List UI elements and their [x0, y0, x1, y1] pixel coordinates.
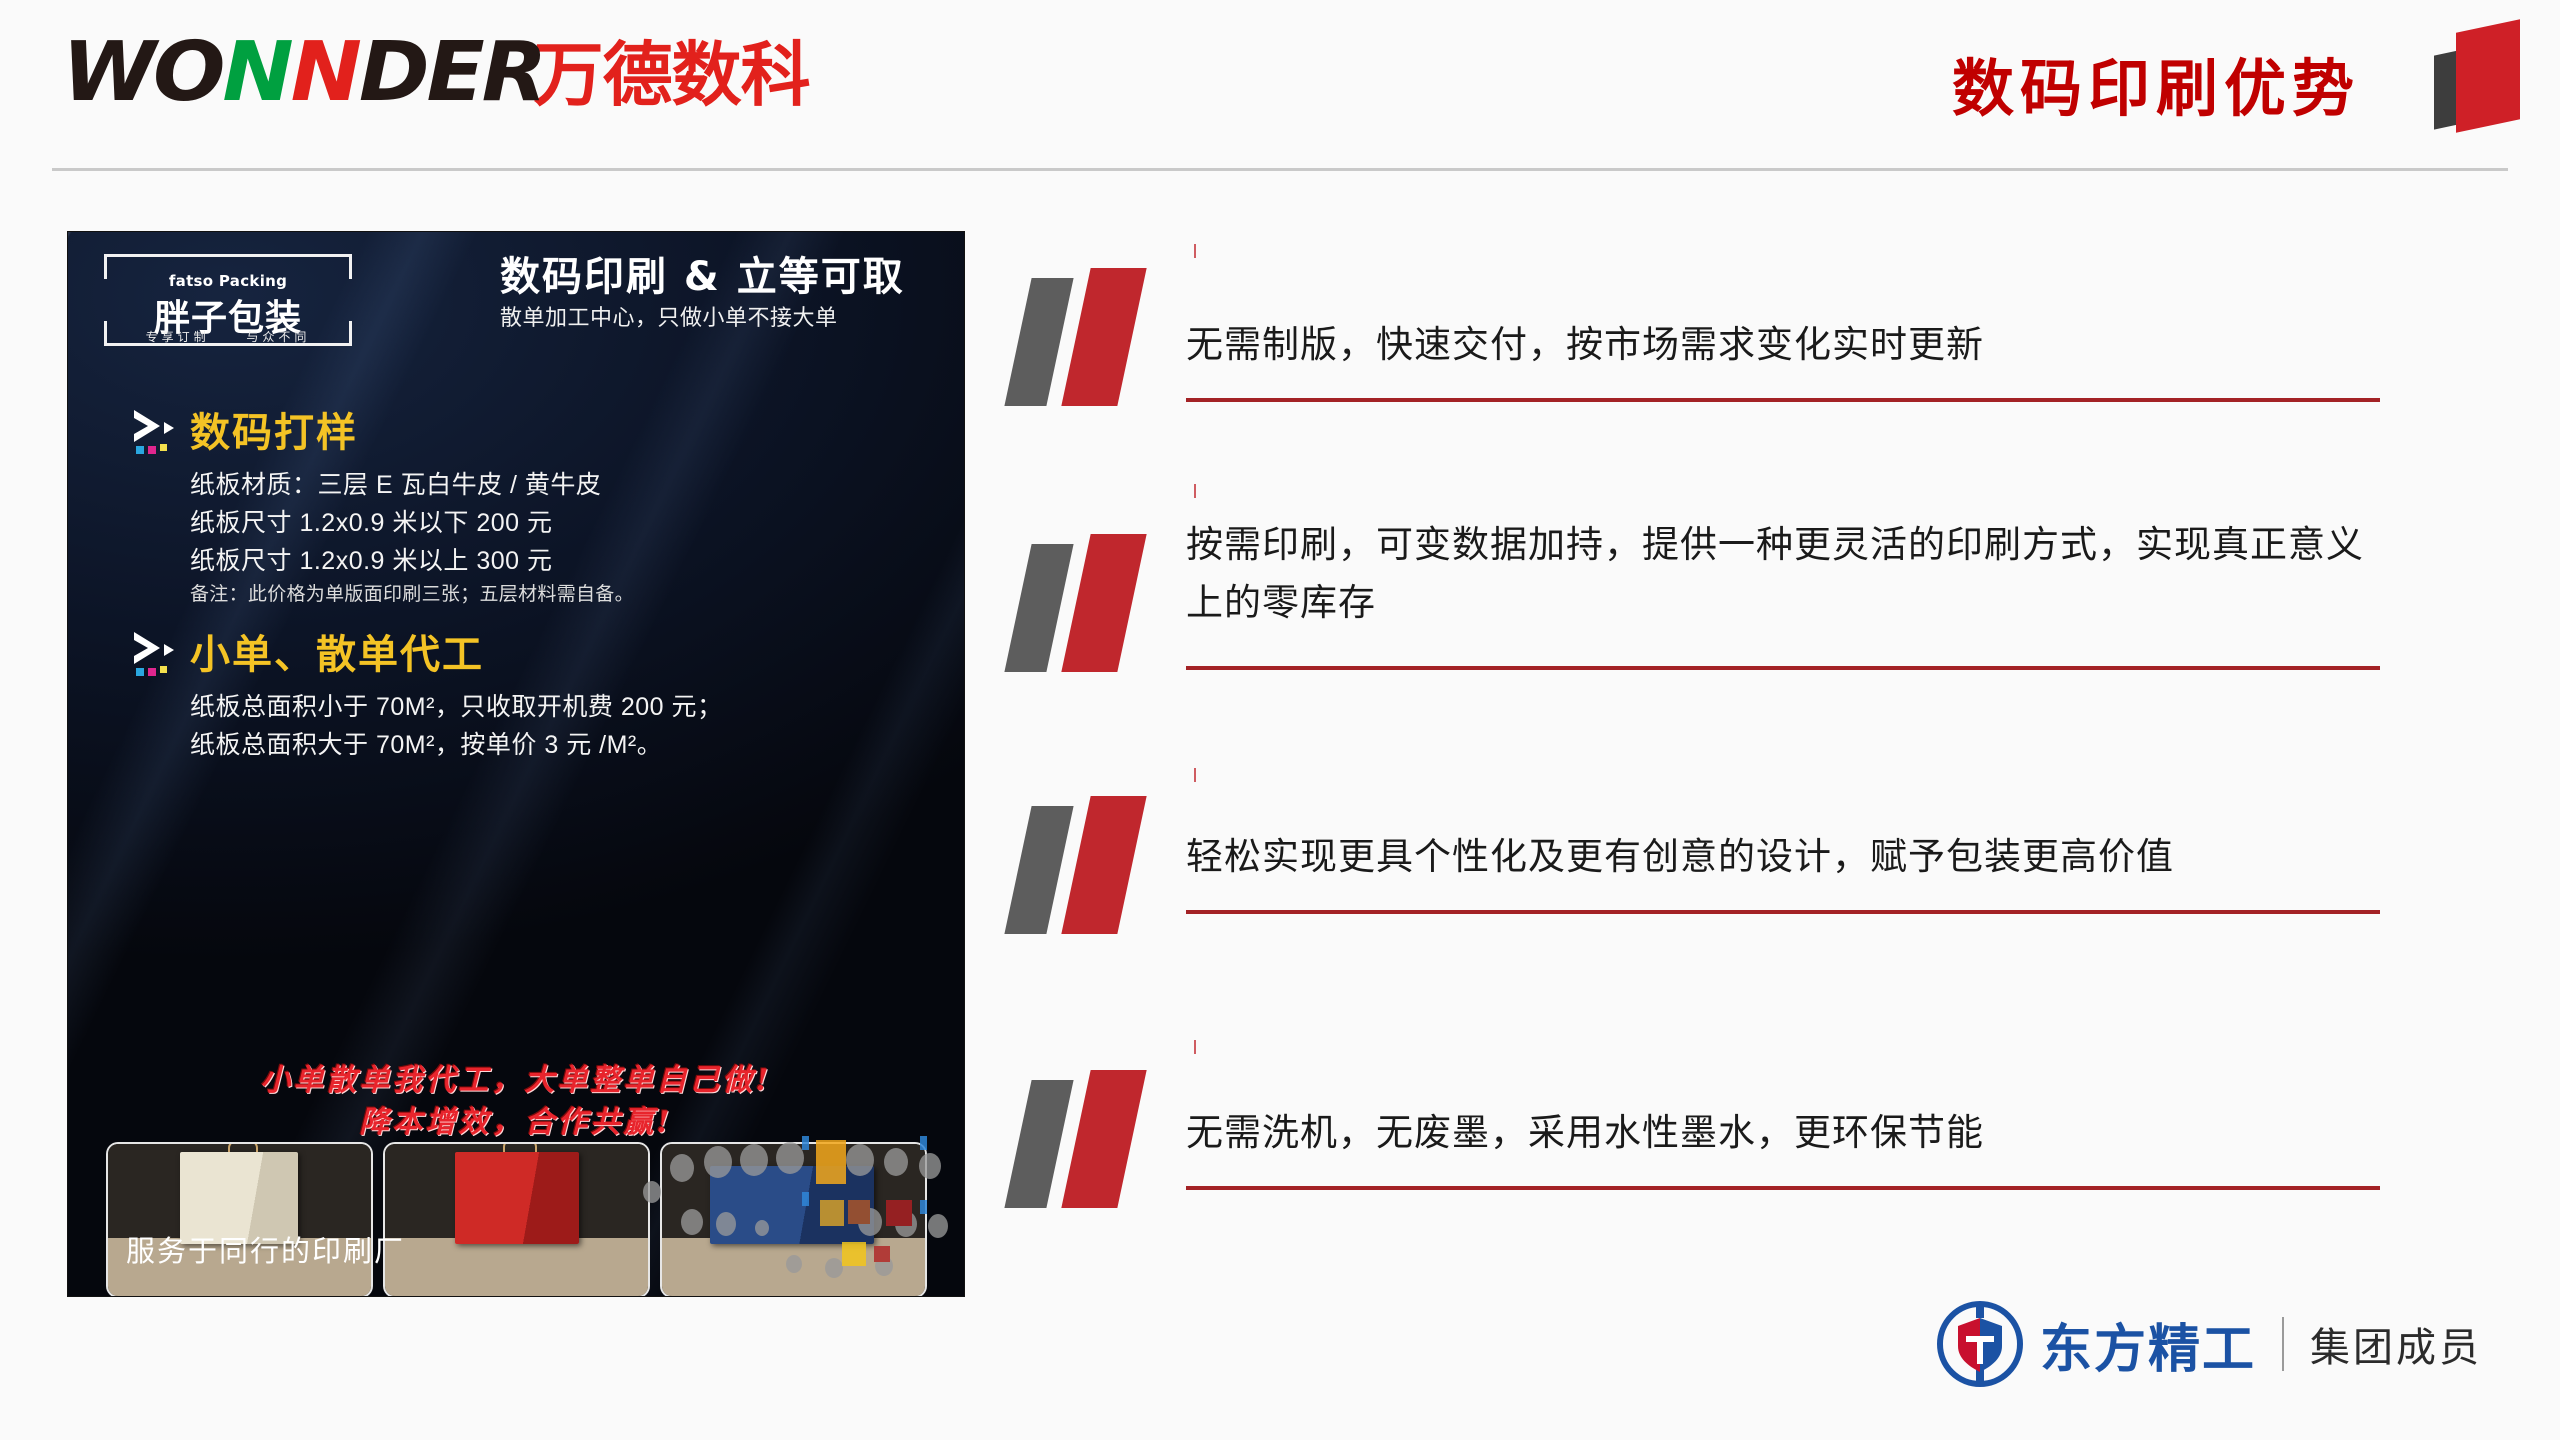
advantage-underline-1 [1186, 398, 2380, 402]
slide-header: WONNDER 万德数科 数码印刷优势 [0, 0, 2560, 172]
chevron-bullet-icon [130, 630, 182, 678]
advantage-text-2: 按需印刷，可变数据加持，提供一种更灵活的印刷方式，实现真正意义上的零库存 [1186, 516, 2366, 632]
marker-gray-bar [1004, 806, 1073, 934]
poster-section-1-title: 数码打样 [130, 410, 634, 456]
poster-footer-text: 服务于同行的印刷厂 [126, 1228, 405, 1270]
advantage-underline-4 [1186, 1186, 2380, 1190]
poster-section-proofing: 数码打样 纸板材质：三层 E 瓦白牛皮 / 黄牛皮 纸板尺寸 1.2x0.9 米… [130, 410, 634, 610]
advantage-underline-2 [1186, 666, 2380, 670]
advantage-text-1: 无需制版，快速交付，按市场需求变化实时更新 [1186, 316, 2376, 374]
chevron-marker-icon [1010, 268, 1166, 418]
poster-line: 纸板尺寸 1.2x0.9 米以下 200 元 [190, 504, 634, 542]
tick-mark [1194, 1040, 1196, 1054]
advantage-item-3: 轻松实现更具个性化及更有创意的设计，赋予包装更高价值 [1010, 808, 2440, 1048]
photo-handle [503, 1144, 537, 1152]
wonder-part-1: WO [62, 25, 222, 120]
chevron-marker-icon [1010, 1070, 1166, 1220]
product-photo [108, 1144, 371, 1296]
poster-headline-group: 数码印刷 & 立等可取 散单加工中心，只做小单不接大单 [500, 252, 905, 334]
header-divider [52, 168, 2508, 171]
footer-company-name: 东方精工 [2040, 1307, 2256, 1382]
chevron-bullet-icon [130, 408, 182, 456]
poster-line: 纸板尺寸 1.2x0.9 米以上 300 元 [190, 542, 634, 580]
marker-red-bar [1061, 796, 1146, 934]
tick-mark [1194, 244, 1196, 258]
marker-red-bar [1061, 534, 1146, 672]
product-photo [385, 1144, 648, 1296]
fatso-logo-text: fatso Packing 胖子包装 [154, 262, 302, 338]
marker-gray-bar [1004, 1080, 1073, 1208]
page-title: 数码印刷优势 [1952, 38, 2360, 128]
poster-line: 纸板材质：三层 E 瓦白牛皮 / 黄牛皮 [190, 466, 634, 504]
advantage-item-4: 无需洗机，无废墨，采用水性墨水，更环保节能 [1010, 1048, 2440, 1268]
poster-section-2-lines: 纸板总面积小于 70M²，只收取开机费 200 元； 纸板总面积大于 70M²，… [130, 688, 723, 764]
chevron-marker-icon [1010, 796, 1166, 946]
fatso-logo-en: fatso Packing [154, 262, 302, 300]
tick-mark [1194, 484, 1196, 498]
corner-red-shape [2456, 19, 2520, 133]
poster-subheadline: 散单加工中心，只做小单不接大单 [500, 302, 905, 334]
wonder-n-green: N [222, 25, 290, 120]
wonder-part-2: DER [359, 25, 544, 120]
advantage-text-3: 轻松实现更具个性化及更有创意的设计，赋予包装更高价值 [1186, 828, 2376, 886]
slide-root: WONNDER 万德数科 数码印刷优势 fatso Packing 胖子包装 专… [0, 0, 2560, 1440]
marker-red-bar [1061, 1070, 1146, 1208]
company-logo: WONNDER 万德数科 [62, 34, 810, 112]
poster-header: fatso Packing 胖子包装 专享订制 与众不同 数码印刷 & 立等可取… [68, 232, 964, 360]
company-logo-chinese: 万德数科 [534, 40, 810, 110]
wonder-n-red: N [291, 25, 359, 120]
poster-section-1-note: 备注：此价格为单版面印刷三张；五层材料需自备。 [190, 580, 634, 610]
wonder-text: WONNDER [62, 34, 544, 112]
corner-decoration-icon [2428, 8, 2546, 126]
photo-floor [385, 1238, 648, 1296]
wonder-wordmark: WONNDER [62, 34, 526, 112]
advantages-list: 无需制版，快速交付，按市场需求变化实时更新 按需印刷，可变数据加持，提供一种更灵… [1010, 268, 2440, 1268]
marker-red-bar [1061, 268, 1146, 406]
poster-section-2-title-text: 小单、散单代工 [190, 632, 484, 678]
promo-poster-image: fatso Packing 胖子包装 专享订制 与众不同 数码印刷 & 立等可取… [68, 232, 964, 1296]
advantage-underline-3 [1186, 910, 2380, 914]
fatso-tagline: 专享订制 与众不同 [104, 328, 352, 345]
poster-line: 纸板总面积大于 70M²，按单价 3 元 /M²。 [190, 726, 723, 764]
fatso-logo: fatso Packing 胖子包装 专享订制 与众不同 [104, 254, 352, 346]
poster-section-2-title: 小单、散单代工 [130, 632, 723, 678]
marker-gray-bar [1004, 278, 1073, 406]
tick-mark [1194, 768, 1196, 782]
fatso-tagline-left: 专享订制 [146, 330, 210, 344]
photo-box [455, 1152, 579, 1244]
footer-divider [2282, 1317, 2284, 1371]
poster-section-1-title-text: 数码打样 [190, 410, 358, 456]
poster-section-1-lines: 纸板材质：三层 E 瓦白牛皮 / 黄牛皮 纸板尺寸 1.2x0.9 米以下 20… [130, 466, 634, 610]
poster-section-oem: 小单、散单代工 纸板总面积小于 70M²，只收取开机费 200 元； 纸板总面积… [130, 632, 723, 764]
photo-handle [228, 1144, 258, 1152]
dongfang-logo-icon [1936, 1300, 2024, 1388]
fatso-tagline-right: 与众不同 [246, 330, 310, 344]
marker-gray-bar [1004, 544, 1073, 672]
poster-line: 纸板总面积小于 70M²，只收取开机费 200 元； [190, 688, 723, 726]
footer-member-label: 集团成员 [2310, 1315, 2482, 1373]
dot-pattern-decoration [634, 1096, 964, 1296]
advantage-item-2: 按需印刷，可变数据加持，提供一种更灵活的印刷方式，实现真正意义上的零库存 [1010, 508, 2440, 808]
poster-headline: 数码印刷 & 立等可取 [500, 252, 905, 302]
advantage-item-1: 无需制版，快速交付，按市场需求变化实时更新 [1010, 268, 2440, 508]
footer-brand: 东方精工 集团成员 [1936, 1300, 2482, 1388]
advantage-text-4: 无需洗机，无废墨，采用水性墨水，更环保节能 [1186, 1104, 2376, 1162]
chevron-marker-icon [1010, 534, 1166, 684]
